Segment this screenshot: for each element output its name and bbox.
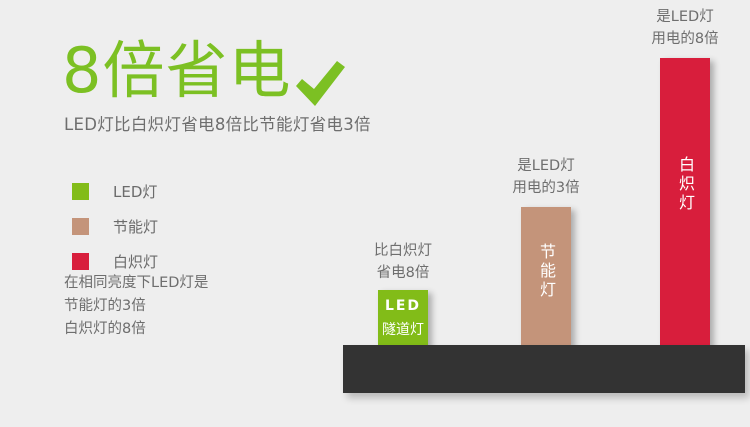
bar-label-cfl: 节能灯 <box>521 243 571 300</box>
bar-caption-incandescent-line-1: 是LED灯 <box>625 6 745 28</box>
bar-label-led-primary: LED <box>378 298 428 314</box>
bar-caption-incandescent: 是LED灯 用电的8倍 <box>625 6 745 50</box>
bar-caption-incandescent-line-2: 用电的8倍 <box>625 28 745 50</box>
bar-caption-cfl-line-2: 用电的3倍 <box>486 177 606 199</box>
bar-cfl: 节能灯 <box>521 207 571 348</box>
bar-caption-led-line-2: 省电8倍 <box>343 262 463 284</box>
bar-chart: 比白炽灯 省电8倍 是LED灯 用电的3倍 是LED灯 用电的8倍 白炽灯 节能… <box>0 0 750 427</box>
infographic-canvas: 8倍省电 LED灯比白炽灯省电8倍比节能灯省电3倍 LED灯 节能灯 白炽灯 在… <box>0 0 750 427</box>
bar-led: LED 隧道灯 <box>378 290 428 348</box>
bar-caption-cfl: 是LED灯 用电的3倍 <box>486 155 606 199</box>
bar-label-led-secondary: 隧道灯 <box>378 319 428 339</box>
bar-label-incandescent: 白炽灯 <box>660 156 710 213</box>
bar-label-cfl-text: 节能灯 <box>534 243 558 300</box>
bar-caption-led-line-1: 比白炽灯 <box>343 240 463 262</box>
bar-incandescent: 白炽灯 <box>660 58 710 348</box>
chart-base-platform <box>343 345 745 393</box>
bar-label-incandescent-text: 白炽灯 <box>673 156 697 213</box>
bar-caption-cfl-line-1: 是LED灯 <box>486 155 606 177</box>
bar-caption-led: 比白炽灯 省电8倍 <box>343 240 463 284</box>
